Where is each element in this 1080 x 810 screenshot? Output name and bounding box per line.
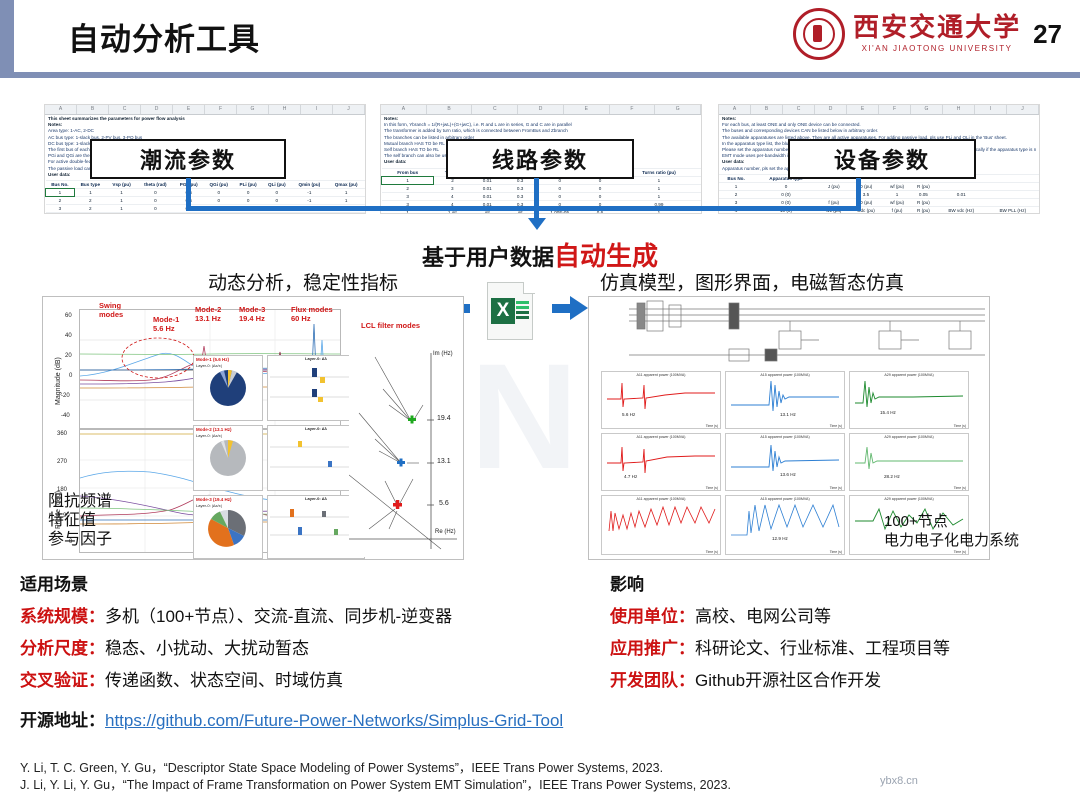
eigen-ylabel: Im (Hz) [433, 351, 453, 357]
generation-prefix: 基于用户数据 [422, 245, 554, 270]
frequency-annotation: 5.6 Hz [622, 412, 635, 417]
annotation-lcl-modes: LCL filter modes [361, 321, 420, 330]
left-accent-rail [0, 0, 14, 74]
annotation-mode-1: Mode-15.6 Hz [153, 315, 179, 333]
pie-chart-mode-3 [198, 508, 258, 548]
table-row: 10 J (pu)D (pu) wf (pu)R (pu) [719, 182, 1039, 190]
annotation-swing-modes: Swing modes [99, 301, 143, 319]
x-axis-label: Time (s) [706, 486, 718, 490]
plot-curve [729, 501, 841, 541]
time-plot-r0c1: A15 apparent power (100MVA) 13.1 Hz Time… [725, 371, 845, 429]
sheet-column-header: ABCDEFGHIJ [719, 105, 1039, 115]
eigenvalue-plot: 19.4 13.1 5.6 Im (Hz) Re (Hz) [349, 353, 461, 557]
row-value: 科研论文、行业标准、工程项目等 [695, 639, 950, 658]
y-tick: 20 [65, 353, 72, 359]
card-title: Mode-3 (19.4 Hz) [194, 496, 262, 503]
scenario-row-scale: 系统规模：多机（100+节点）、交流-直流、同步机-逆变器 [20, 602, 610, 627]
plot-curve [729, 377, 841, 415]
frequency-annotation: 15.4 Hz [880, 410, 896, 415]
table-header-row: Bus No. Bus type Vsp (pu) theta (rad) PG… [46, 181, 366, 189]
site-watermark: ybx8.cn [880, 775, 918, 787]
row-key: 应用推广： [610, 639, 695, 658]
annotation-mode-2: Mode-213.1 Hz [195, 305, 221, 323]
eigen-scatter [349, 353, 461, 557]
plot-curve [605, 439, 717, 477]
open-source-link[interactable]: https://github.com/Future-Power-Networks… [105, 711, 563, 730]
row-value: 传递函数、状态空间、时域仿真 [105, 671, 343, 690]
row-value: 多机（100+节点）、交流-直流、同步机-逆变器 [105, 607, 452, 626]
plot-curve [853, 377, 965, 415]
frequency-annotation: 28.2 Hz [884, 474, 900, 479]
label-impedance-spectrum: 阻抗频谱 [48, 492, 112, 511]
generation-highlight: 自动生成 [554, 241, 658, 271]
frequency-annotation: 13.6 Hz [780, 472, 796, 477]
table-row: 23 0.010.3 00 1 [382, 184, 702, 192]
section-heading-impact: 影响 [610, 570, 1070, 595]
right-figure-caption: 仿真模型，图形界面，电磁暂态仿真 [600, 268, 904, 295]
y-tick: -40 [61, 413, 70, 419]
impact-row-users: 使用单位：高校、电网公司等 [610, 602, 1070, 627]
row-key: 使用单位： [610, 607, 695, 626]
row-key: 交叉验证： [20, 671, 105, 690]
frequency-annotation: 13.1 Hz [780, 412, 796, 417]
applicable-scenarios-block: 适用场景 系统规模：多机（100+节点）、交流-直流、同步机-逆变器 分析尺度：… [20, 570, 610, 691]
row-key: 系统规模： [20, 607, 105, 626]
table-row: 20 (0) 3.5 10.05 0.01 [719, 190, 1039, 198]
row-key: 分析尺度： [20, 639, 105, 658]
arrow-right-icon [570, 296, 588, 320]
university-name-block: 西安交通大学 XI'AN JIAOTONG UNIVERSITY [853, 15, 1021, 53]
eigen-tick-19-4: 19.4 [437, 415, 451, 422]
x-axis-label: Time (s) [706, 550, 718, 554]
scenario-row-validation: 交叉验证：传递函数、状态空间、时域仿真 [20, 666, 610, 691]
pie-chart-mode-2 [198, 438, 258, 478]
eigen-tick-13-1: 13.1 [437, 458, 451, 465]
x-axis-label: Time (s) [830, 550, 842, 554]
sheet-label-device: 设备参数 [788, 139, 976, 179]
arrow-right-tail [552, 304, 572, 313]
card-title: Mode-1 (5.6 Hz) [194, 356, 262, 363]
plot-curve [605, 501, 717, 541]
reference-item: Y. Li, T. C. Green, Y. Gu，“Descriptor St… [20, 760, 731, 777]
arrow-down-icon [528, 218, 546, 230]
reference-item: J. Li, Y. Li, Y. Gu，“The Impact of Frame… [20, 777, 731, 794]
participation-card-mode-1: Mode-1 (5.6 Hz) Layer-0: |Δx/x| [193, 355, 263, 421]
table-row: 22 10 0.50 00 -11 [46, 197, 366, 205]
connector-horizontal-bar [186, 206, 861, 211]
table-row: 34 0.010.3 00 1 [382, 192, 702, 200]
x-axis-label: Time (s) [830, 486, 842, 490]
university-name-cn: 西安交通大学 [853, 15, 1021, 41]
x-axis-label: Time (s) [706, 424, 718, 428]
university-name-en: XI'AN JIAOTONG UNIVERSITY [853, 44, 1021, 53]
eigen-xlabel: Re (Hz) [435, 529, 456, 535]
frequency-annotation: 4.7 Hz [624, 474, 637, 479]
sheet-label-powerflow: 潮流参数 [90, 139, 286, 179]
label-participation-factor: 参与因子 [48, 530, 112, 549]
table-row: 43 10 0.5-0.2 00 -11 [46, 213, 366, 214]
time-plot-r1c2: A29 apparent power (100MVA) 28.2 Hz Time… [849, 433, 969, 491]
y-tick: -20 [61, 393, 70, 399]
university-seal-icon [793, 8, 845, 60]
sensitivity-bars-1 [268, 361, 360, 407]
pie-chart-mode-1 [198, 368, 258, 408]
scenario-row-scope: 分析尺度：稳态、小扰动、大扰动暂态 [20, 634, 610, 659]
table-row: 1 11 00.5 00 0-1 1 [46, 189, 366, 197]
section-heading-scenarios: 适用场景 [20, 570, 610, 595]
time-plot-r1c1: A15 apparent power (100MVA) 13.6 Hz Time… [725, 433, 845, 491]
sheet-column-header: ABCDEFGHIJ [45, 105, 365, 115]
annotation-mode-3: Mode-319.4 Hz [239, 305, 265, 323]
impact-row-adoption: 应用推广：科研论文、行业标准、工程项目等 [610, 634, 1070, 659]
x-axis-label: Time (s) [954, 486, 966, 490]
sheet-label-line: 线路参数 [446, 139, 634, 179]
impact-block: 影响 使用单位：高校、电网公司等 应用推广：科研论文、行业标准、工程项目等 开发… [610, 570, 1070, 691]
sensitivity-bars-2 [268, 431, 360, 477]
open-source-line: 开源地址：https://github.com/Future-Power-Net… [20, 706, 563, 731]
node-count: 100+节点 [884, 512, 1019, 531]
participation-card-mode-3: Mode-3 (19.4 Hz) Layer-0: |Δx/x| [193, 495, 263, 559]
plot-curve [605, 377, 717, 415]
header-divider [0, 72, 1080, 78]
y-tick: 360 [57, 431, 67, 437]
circuit-schematic [589, 297, 989, 367]
y-tick: 40 [65, 333, 72, 339]
y-tick: 60 [65, 313, 72, 319]
page-title: 自动分析工具 [68, 14, 260, 59]
slide-header: 自动分析工具 西安交通大学 XI'AN JIAOTONG UNIVERSITY … [14, 0, 1080, 66]
page-number: 27 [1033, 19, 1062, 50]
participation-card-mode-2: Mode-2 (13.1 Hz) Layer-0: |Δx/x| [193, 425, 263, 491]
x-axis-label: Time (s) [954, 424, 966, 428]
university-brand: 西安交通大学 XI'AN JIAOTONG UNIVERSITY 27 [793, 8, 1062, 60]
background-watermark-letter: N [470, 330, 578, 503]
card-title: Mode-2 (13.1 Hz) [194, 426, 262, 433]
node-scale-label: 100+节点 电力电子化电力系统 [884, 512, 1019, 550]
open-source-key: 开源地址： [20, 711, 105, 730]
row-key: 开发团队： [610, 671, 695, 690]
left-figure-caption: 动态分析，稳定性指标 [208, 268, 398, 295]
left-figure-labels: 阻抗频谱 特征值 参与因子 [48, 492, 112, 549]
label-eigenvalue: 特征值 [48, 511, 112, 530]
annotation-flux-modes: Flux modes60 Hz [291, 305, 333, 323]
generation-caption: 基于用户数据自动生成 [0, 236, 1080, 273]
sensitivity-bars-3 [268, 501, 360, 545]
sheet-column-header: ABCDEFG [381, 105, 701, 115]
x-axis-label: Time (s) [954, 550, 966, 554]
row-value: 高校、电网公司等 [695, 607, 831, 626]
time-plot-r2c1: A15 apparent power (100MVA) 12.9 Hz Time… [725, 495, 845, 555]
time-plot-r2c0: A11 apparent power (100MVA) Time (s) [601, 495, 721, 555]
row-value: Github开源社区合作开发 [695, 671, 881, 690]
plot-curve [853, 439, 965, 477]
impact-row-team: 开发团队：Github开源社区合作开发 [610, 666, 1070, 691]
y-tick: 0 [69, 373, 72, 379]
x-axis-label: Time (s) [830, 424, 842, 428]
row-value: 稳态、小扰动、大扰动暂态 [105, 639, 309, 658]
system-type: 电力电子化电力系统 [884, 531, 1019, 550]
y-tick: 270 [57, 459, 67, 465]
time-plot-r0c0: A11 apparent power (100MVA) 5.6 Hz Time … [601, 371, 721, 429]
frequency-annotation: 12.9 Hz [772, 536, 788, 541]
eigen-tick-5-6: 5.6 [439, 500, 449, 507]
time-plot-r0c2: A29 apparent power (100MVA) 15.4 Hz Time… [849, 371, 969, 429]
time-plot-r1c0: A11 apparent power (100MVA) 4.7 Hz Time … [601, 433, 721, 491]
references-block: Y. Li, T. C. Green, Y. Gu，“Descriptor St… [20, 760, 731, 794]
